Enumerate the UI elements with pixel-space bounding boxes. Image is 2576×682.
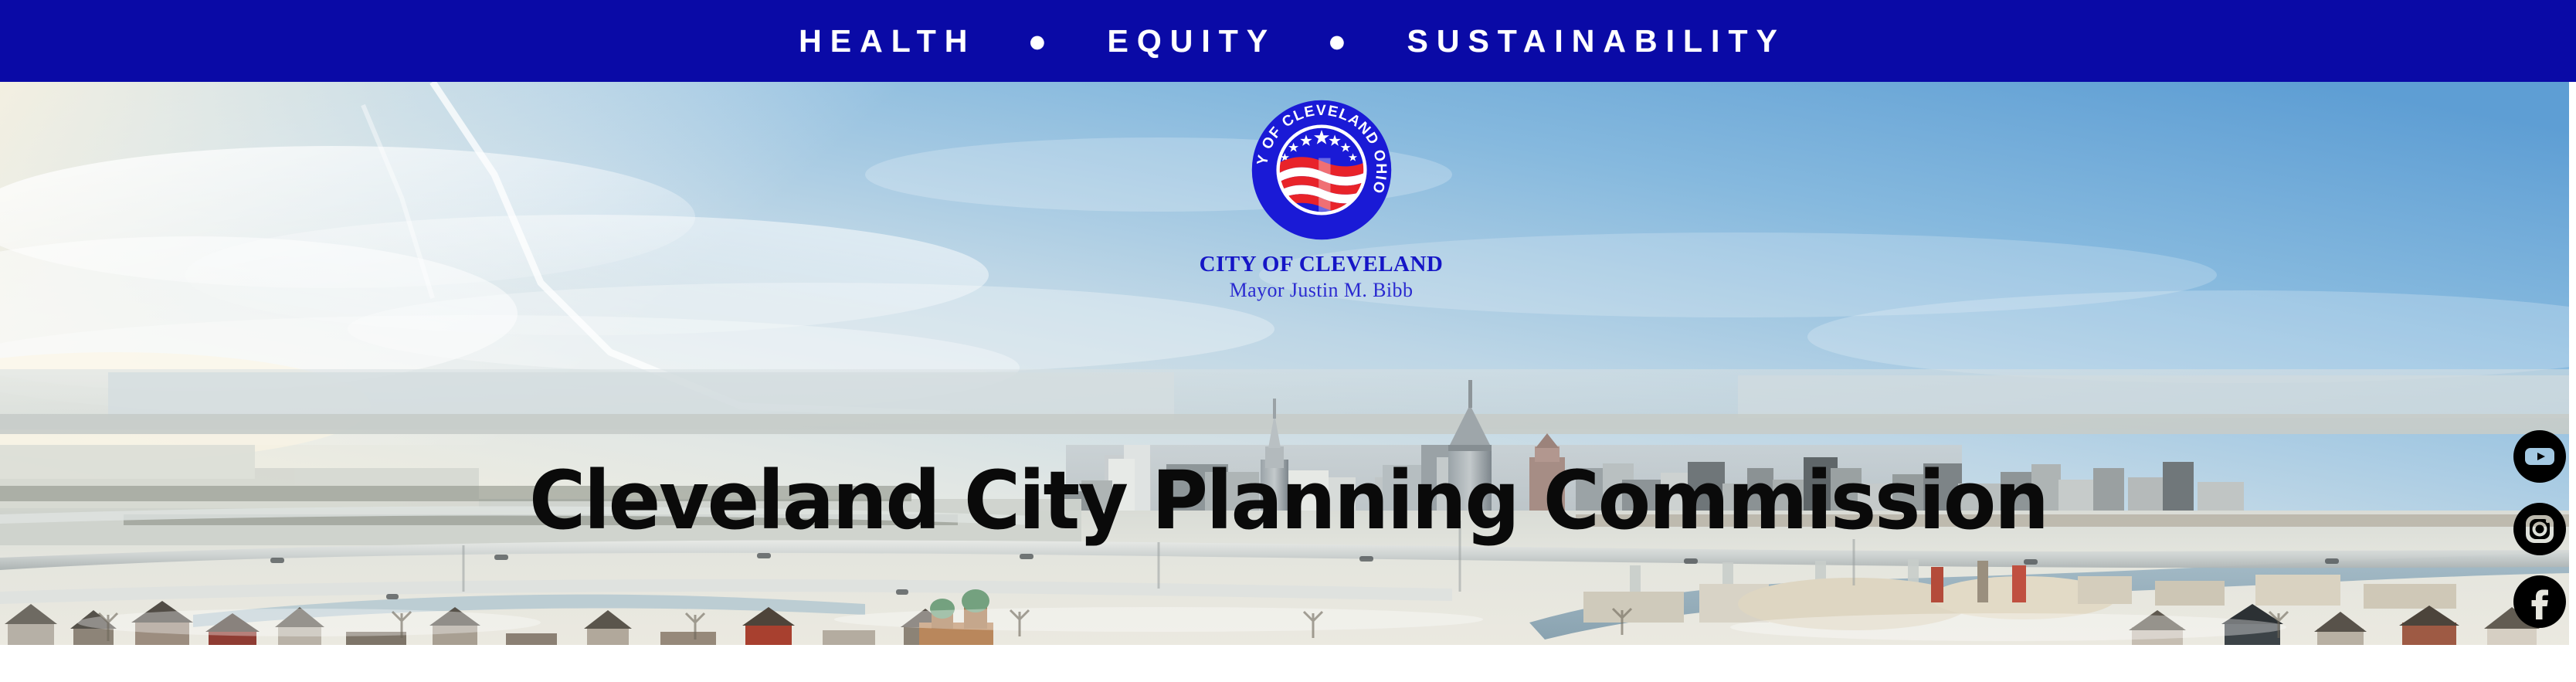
bottom-white-gutter — [0, 645, 2576, 682]
facebook-icon[interactable] — [2513, 575, 2566, 628]
youtube-icon[interactable] — [2513, 430, 2566, 483]
tagline-banner: HEALTH ● EQUITY ● SUSTAINABILITY — [0, 0, 2576, 82]
social-links — [2513, 430, 2567, 628]
right-white-gutter — [2569, 82, 2576, 682]
tagline-text: HEALTH ● EQUITY ● SUSTAINABILITY — [790, 25, 1786, 57]
cleveland-planning-commission-header: HEALTH ● EQUITY ● SUSTAINABILITY — [0, 0, 2576, 682]
cleveland-skyline-photo — [0, 82, 2569, 645]
instagram-icon[interactable] — [2513, 503, 2566, 555]
